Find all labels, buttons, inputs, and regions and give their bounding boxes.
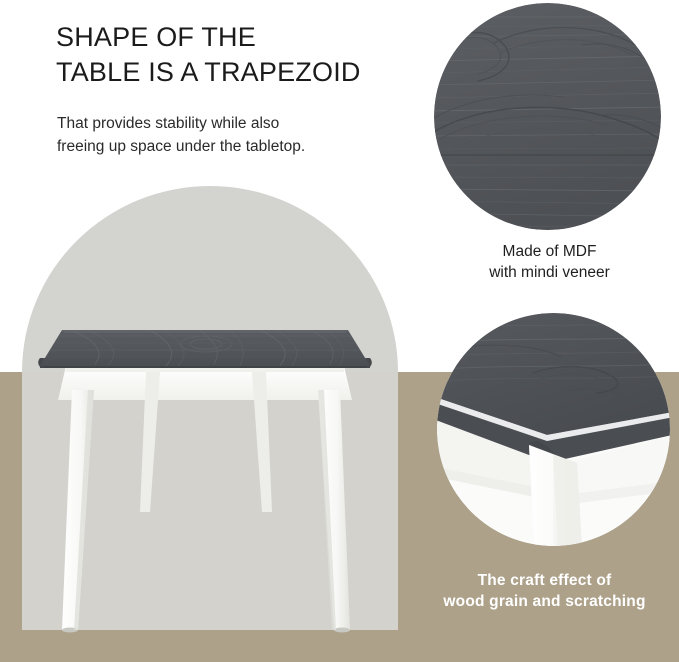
feature-caption-veneer: Made of MDF with mindi veneer — [420, 241, 679, 283]
veneer-swatch-svg — [434, 3, 661, 230]
corner-closeup-svg — [437, 313, 670, 546]
feature-image-veneer-swatch — [434, 3, 661, 230]
feature-image-corner-closeup — [437, 313, 670, 546]
table-illustration — [0, 0, 420, 662]
feature-caption-craft: The craft effect of wood grain and scrat… — [410, 570, 679, 612]
table-svg — [0, 0, 420, 662]
tabletop-back-highlight — [62, 330, 348, 333]
leg-foot-right — [334, 628, 350, 633]
infographic-canvas: SHAPE OF THE TABLE IS A TRAPEZOID That p… — [0, 0, 679, 662]
